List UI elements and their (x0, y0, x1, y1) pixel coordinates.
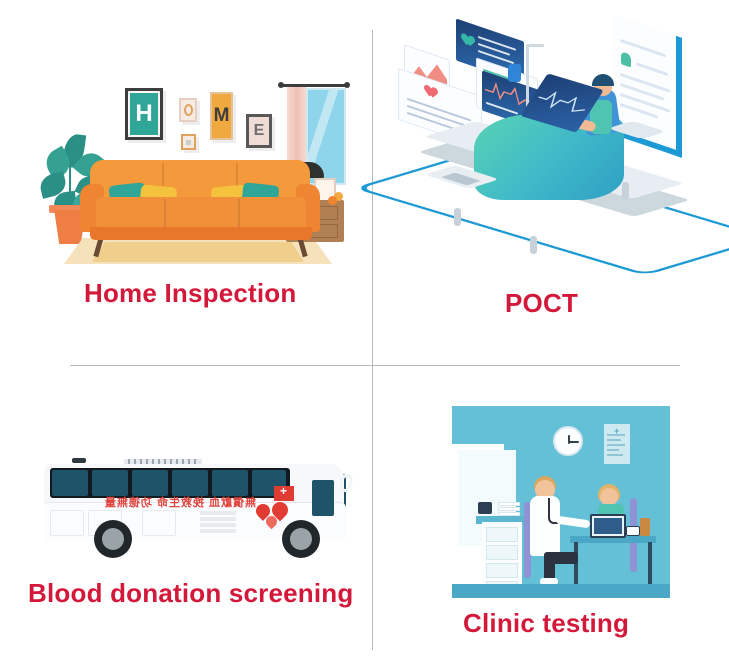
illustration-poct (398, 22, 722, 274)
label-home-inspection: Home Inspection (84, 278, 296, 309)
clipboard-avatar-icon (621, 51, 631, 67)
bus-window (92, 470, 128, 496)
wall-art-frame-e: E (246, 114, 272, 148)
label-blood-donation-screening: Blood donation screening (28, 578, 353, 609)
clock-minute-hand (569, 441, 579, 443)
illustration-clinic-testing: + (452, 406, 670, 598)
wall-art-frame-o-circle (179, 98, 197, 122)
divider-horizontal (70, 365, 680, 366)
wall-art-letter-m: M (214, 105, 230, 127)
stacked-books (498, 512, 520, 516)
bus-door (312, 480, 334, 516)
red-cross-flag-icon (274, 486, 294, 501)
bed-leg (622, 182, 629, 200)
illustration-blood-donation-bus: 無償獻血 挽救生命 功德無量 (24, 438, 364, 566)
wall-art-letter-e: E (254, 122, 265, 140)
bus-wheel-rear (94, 520, 132, 558)
sofa-seat-seam (238, 199, 240, 229)
tablet-ecg-icon (534, 87, 591, 118)
clipboard-line (620, 93, 670, 113)
wall-art-frame-small (181, 134, 196, 150)
wall-art-frame-m: M (210, 92, 233, 140)
bus-window (52, 470, 88, 496)
wall-art-letter-h: H (130, 93, 158, 135)
stacked-books (498, 507, 520, 511)
sofa-seat-seam (164, 199, 166, 229)
divider-vertical (372, 30, 373, 650)
bed-leg (530, 236, 537, 254)
heart-icon (462, 32, 474, 47)
stacked-books (498, 502, 520, 506)
figure-canvas: H M E (0, 0, 729, 666)
bus-service-panel (142, 510, 176, 536)
patient-hair (592, 74, 614, 86)
bus-antenna (72, 458, 86, 463)
wall-art-frame-h: H (125, 88, 163, 140)
chart-plus-icon: + (614, 426, 619, 436)
area-rug-inner (92, 242, 304, 262)
sofa-base (90, 227, 312, 240)
bed-leg (454, 208, 461, 226)
bus-wheel-front (282, 520, 320, 558)
bus-service-panel (50, 510, 84, 536)
wall-art-circle-icon (184, 104, 193, 116)
clinic-floor (452, 584, 670, 598)
label-clinic-testing: Clinic testing (463, 608, 629, 639)
label-poct: POCT (505, 288, 578, 319)
clipboard-line (620, 73, 670, 93)
decor-ball (328, 196, 337, 205)
iv-bag (508, 64, 521, 82)
bus-window (132, 470, 168, 496)
reagent-bottle (640, 518, 650, 536)
bus-window (172, 470, 208, 496)
clipboard-line (636, 62, 668, 76)
illustration-home-inspection: H M E (34, 34, 354, 260)
bus-slogan-text: 無償獻血 挽救生命 功德無量 (86, 494, 256, 508)
sofa-seat (96, 197, 306, 231)
living-room-scene: H M E (34, 34, 354, 260)
wall-art-dot-icon (186, 140, 191, 145)
wall-chart-poster: + (604, 424, 630, 464)
small-monitor-device (626, 526, 640, 536)
heart-icon (425, 84, 437, 99)
laptop-screen (594, 518, 622, 534)
handheld-device (478, 502, 492, 514)
bus-vent-grid (200, 511, 236, 535)
bus-window (212, 470, 248, 496)
wall-clock (553, 426, 583, 456)
laptop (590, 514, 626, 538)
iv-hook (526, 44, 544, 47)
